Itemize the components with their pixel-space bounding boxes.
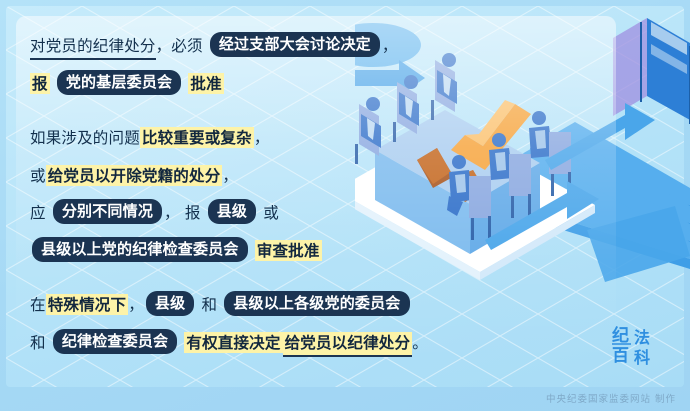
infographic-canvas: 对党员的纪律处分，必须 经过支部大会讨论决定， 报 党的基层委员会 批准 如果涉… <box>0 0 690 411</box>
run-highlight: 批准 <box>188 73 223 94</box>
regulation-text: 对党员的纪律处分，必须 经过支部大会讨论决定， 报 党的基层委员会 批准 如果涉… <box>30 28 460 362</box>
run-pill: 县级 <box>146 291 194 316</box>
run-pill: 党的基层委员会 <box>57 70 181 95</box>
run-highlight: 特殊情况下 <box>46 294 129 315</box>
run-pill: 县级 <box>208 199 256 224</box>
paragraph-3: 在特殊情况下，县级 和 县级以上各级党的委员会 和 纪律检查委员会 有权直接决定… <box>30 286 460 362</box>
text-line-3: 如果涉及的问题比较重要或复杂， <box>30 119 460 157</box>
run-highlight: 报 <box>30 73 50 94</box>
run-plain: 在 <box>30 296 46 314</box>
text-line-2: 报 党的基层委员会 批准 <box>30 65 460 103</box>
run-plain: 。 <box>412 334 428 352</box>
run-plain: ，必须 <box>156 37 208 55</box>
text-line-6: 县级以上党的纪律检查委员会 审查批准 <box>30 232 460 270</box>
paragraph-2: 如果涉及的问题比较重要或复杂， 或给党员以开除党籍的处分， 应 分别不同情况， … <box>30 119 460 270</box>
run-plain <box>50 75 55 93</box>
run-pill: 县级以上党的纪律检查委员会 <box>32 237 248 262</box>
text-line-1: 对党员的纪律处分，必须 经过支部大会讨论决定， <box>30 28 460 65</box>
text-line-7: 在特殊情况下，县级 和 县级以上各级党的委员会 <box>30 286 460 324</box>
run-highlight-underline: 给党员以纪律处分 <box>283 332 413 357</box>
run-highlight: 有权直接决定 <box>184 332 282 353</box>
text-line-4: 或给党员以开除党籍的处分， <box>30 157 460 195</box>
logo-char-right-top: 法 <box>634 328 650 347</box>
run-plain <box>250 242 255 260</box>
logo-char-top: 纪 <box>612 325 629 346</box>
run-highlight: 给党员以开除党籍的处分 <box>46 165 223 186</box>
run-plain: 和 <box>30 334 51 352</box>
paragraph-1: 对党员的纪律处分，必须 经过支部大会讨论决定， 报 党的基层委员会 批准 <box>30 28 460 103</box>
run-plain: 如果涉及的问题 <box>30 129 140 147</box>
run-plain: 应 <box>30 204 51 222</box>
run-pill: 纪律检查委员会 <box>53 329 177 354</box>
run-plain: ， <box>128 296 144 314</box>
run-pill: 经过支部大会讨论决定 <box>210 32 380 57</box>
run-highlight: 审查批准 <box>255 240 322 261</box>
logo-char-bottom: 百 <box>612 346 629 366</box>
run-plain: ， <box>382 37 398 55</box>
run-plain: ， <box>254 129 270 147</box>
run-plain: 和 <box>196 296 222 314</box>
run-highlight: 比较重要或复杂 <box>140 127 254 148</box>
footer-credit: 中央纪委国家监委网站 制作 <box>546 391 676 405</box>
run-pill: 县级以上各级党的委员会 <box>224 291 409 316</box>
run-plain: ， <box>222 167 238 185</box>
run-plain: 或 <box>258 204 279 222</box>
run-pill: 分别不同情况 <box>53 199 162 224</box>
logo-char-right-bottom: 科 <box>634 348 650 367</box>
run-underline: 对党员的纪律处分 <box>30 37 156 60</box>
text-line-5: 应 分别不同情况， 报 县级 或 <box>30 195 460 232</box>
jifake-logo: 纪 百 法 科 <box>612 323 674 367</box>
run-plain: 或 <box>30 167 46 185</box>
text-line-8: 和 纪律检查委员会 有权直接决定给党员以纪律处分。 <box>30 324 460 362</box>
run-plain: ， 报 <box>164 204 206 222</box>
